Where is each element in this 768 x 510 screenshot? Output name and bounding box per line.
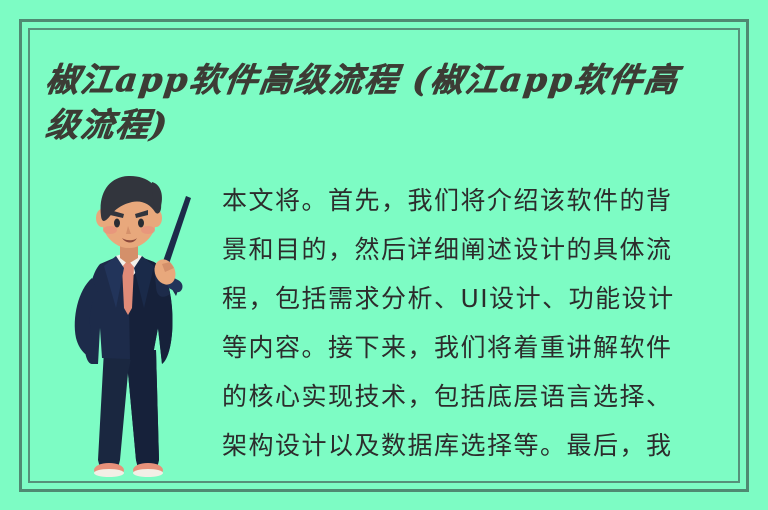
trousers-shadow [128,350,159,468]
title-line-1: 椒江app软件高级流程 (椒江app软件高 [43,57,719,102]
body-line-5: 的核心实现技术，包括底层语言选择、 [222,372,734,421]
shoe-sole-right [133,469,163,477]
eye-left [114,219,120,228]
eye-right [138,219,144,228]
page-title: 椒江app软件高级流程 (椒江app软件高 级流程) [46,57,716,147]
shoe-sole-left [94,469,124,477]
body-line-4: 等内容。接下来，我们将着重讲解软件 [222,323,734,372]
blush-left [103,226,117,234]
body-paragraph: 本文将。首先，我们将介绍该软件的背 景和目的，然后详细阐述设计的具体流 程，包括… [222,176,734,470]
pointer-stick [162,196,191,267]
poster-canvas: 椒江app软件高级流程 (椒江app软件高 级流程) [0,0,768,510]
blush-right [141,226,155,234]
businessman-illustration [58,168,223,480]
body-line-3: 程，包括需求分析、UI设计、功能设计 [222,274,734,323]
title-line-2: 级流程) [43,102,719,147]
body-line-6: 架构设计以及数据库选择等。最后，我 [222,421,734,470]
body-line-2: 景和目的，然后详细阐述设计的具体流 [222,225,734,274]
body-line-1: 本文将。首先，我们将介绍该软件的背 [222,176,734,225]
